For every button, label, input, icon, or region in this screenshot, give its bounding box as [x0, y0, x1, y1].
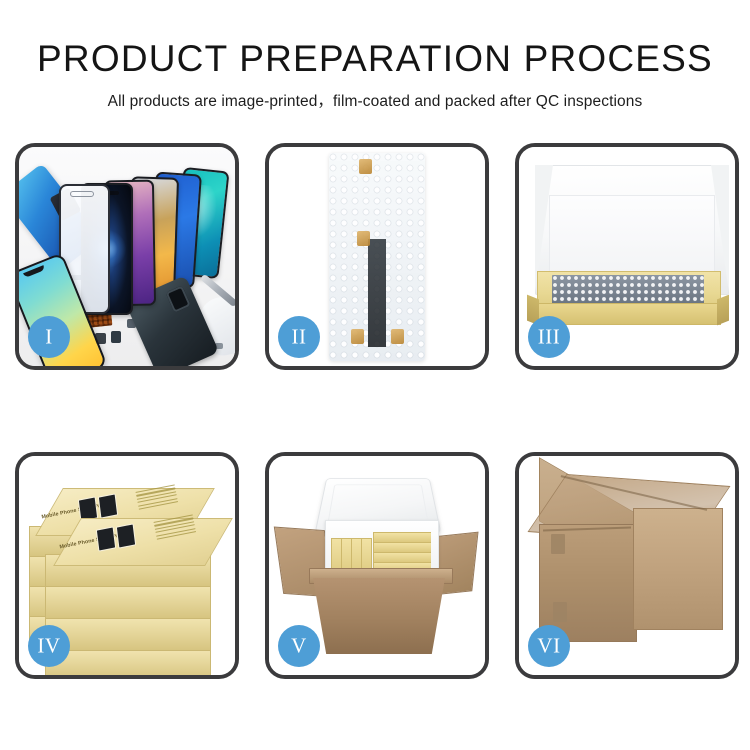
- carton-side-face-graphic: [633, 508, 723, 630]
- retail-box-window-graphic: [98, 493, 118, 518]
- process-step-panel-6[interactable]: VI: [515, 452, 739, 679]
- process-step-panel-4[interactable]: Mobile Phone Spare Parts Mobile Phone Sp…: [15, 452, 239, 679]
- adhesive-tape-graphic: [357, 231, 370, 246]
- step-numeral: VI: [537, 635, 560, 656]
- step-badge-1: I: [28, 316, 70, 358]
- step-badge-6: VI: [528, 625, 570, 667]
- step-badge-2: II: [278, 316, 320, 358]
- carton-tape-patch-graphic: [551, 534, 565, 554]
- step-numeral: III: [538, 326, 560, 347]
- retail-box-window-graphic: [96, 526, 116, 551]
- flex-cable-graphic: [368, 239, 386, 347]
- process-step-grid: I II: [15, 143, 738, 679]
- kraft-tray-front-graphic: [537, 303, 721, 325]
- process-step-panel-1[interactable]: I: [15, 143, 239, 370]
- step-badge-5: V: [278, 625, 320, 667]
- process-step-panel-2[interactable]: II: [265, 143, 489, 370]
- retail-box-graphic: [45, 586, 211, 620]
- part-bit-graphic: [111, 331, 121, 343]
- step-numeral: IV: [37, 635, 60, 656]
- kraft-tray-right-end-graphic: [717, 295, 729, 326]
- product-preparation-infographic: PRODUCT PREPARATION PROCESS All products…: [0, 0, 750, 750]
- retail-box-graphic: [45, 650, 211, 675]
- header: PRODUCT PREPARATION PROCESS All products…: [0, 40, 750, 111]
- retail-box-window-graphic: [116, 523, 136, 548]
- adhesive-tape-graphic: [391, 329, 404, 344]
- carton-tape-patch-graphic: [553, 602, 567, 622]
- step-numeral: II: [292, 326, 307, 347]
- adhesive-tape-graphic: [359, 159, 372, 174]
- process-step-panel-3[interactable]: III: [515, 143, 739, 370]
- bubble-wrapped-contents-graphic: [552, 275, 704, 305]
- step-numeral: V: [291, 635, 307, 656]
- step-badge-4: IV: [28, 625, 70, 667]
- carton-body-graphic: [313, 578, 445, 654]
- page-title: PRODUCT PREPARATION PROCESS: [0, 40, 750, 79]
- process-step-panel-5[interactable]: V: [265, 452, 489, 679]
- page-subtitle: All products are image-printed，film-coat…: [0, 89, 750, 111]
- step-numeral: I: [45, 326, 53, 347]
- step-badge-3: III: [528, 316, 570, 358]
- adhesive-tape-graphic: [351, 329, 364, 344]
- bubble-wrap-bag-graphic: [329, 153, 425, 361]
